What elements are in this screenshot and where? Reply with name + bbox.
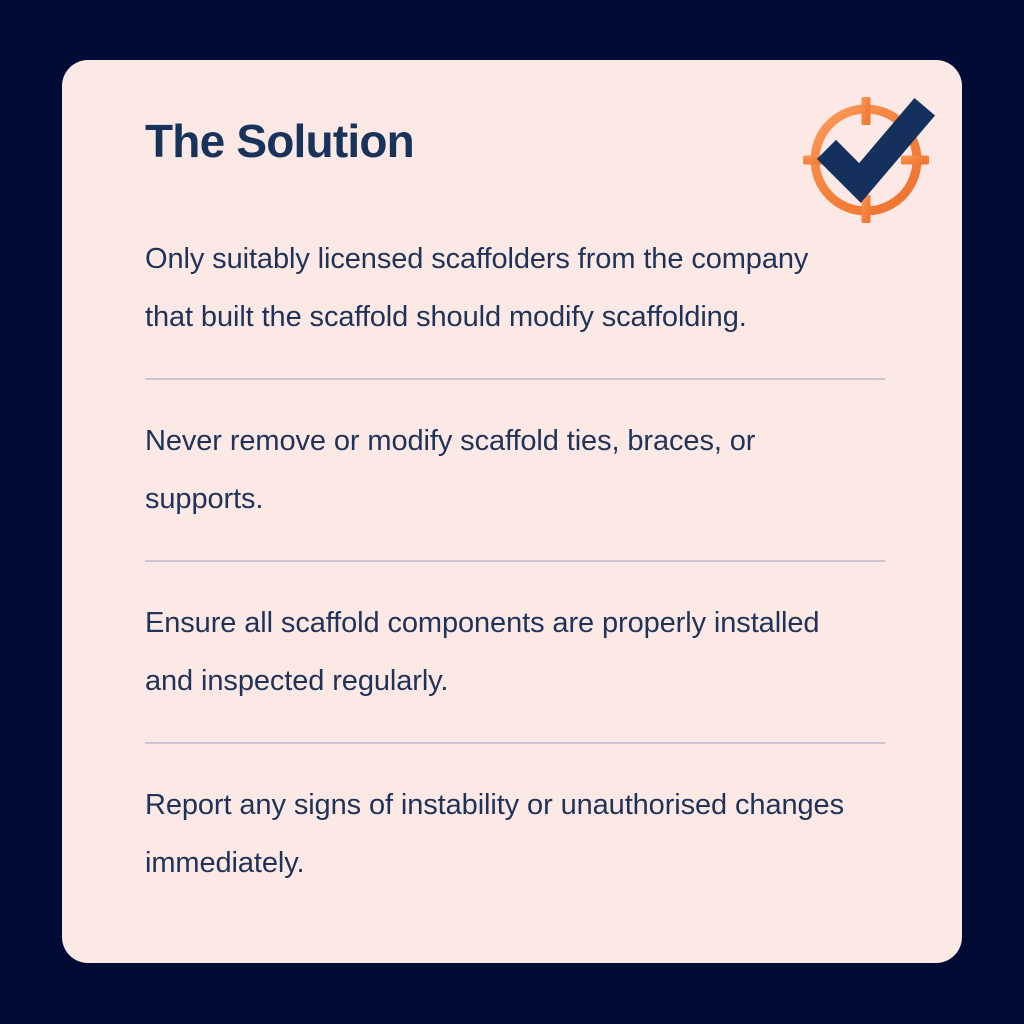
list-item: Only suitably licensed scaffolders from … — [145, 230, 885, 346]
point-text: Only suitably licensed scaffolders from … — [145, 230, 845, 346]
spacer — [145, 528, 885, 560]
spacer — [145, 744, 885, 776]
page-title: The Solution — [145, 115, 414, 167]
spacer — [145, 562, 885, 594]
list-item: Never remove or modify scaffold ties, br… — [145, 412, 885, 528]
list-item: Ensure all scaffold components are prope… — [145, 594, 885, 710]
point-text: Report any signs of instability or unaut… — [145, 776, 885, 892]
point-text: Never remove or modify scaffold ties, br… — [145, 412, 785, 528]
point-text: Ensure all scaffold components are prope… — [145, 594, 875, 710]
spacer — [145, 710, 885, 742]
solution-points-list: Only suitably licensed scaffolders from … — [145, 230, 885, 892]
spacer — [145, 380, 885, 412]
spacer — [145, 346, 885, 378]
poster-canvas: The Solution — [0, 0, 1024, 1024]
card-header: The Solution — [145, 60, 885, 220]
solution-card: The Solution — [62, 60, 962, 963]
card-content: The Solution — [145, 60, 885, 963]
list-item: Report any signs of instability or unaut… — [145, 776, 885, 892]
target-check-icon — [790, 87, 942, 233]
checkmark-glyph — [836, 117, 916, 183]
